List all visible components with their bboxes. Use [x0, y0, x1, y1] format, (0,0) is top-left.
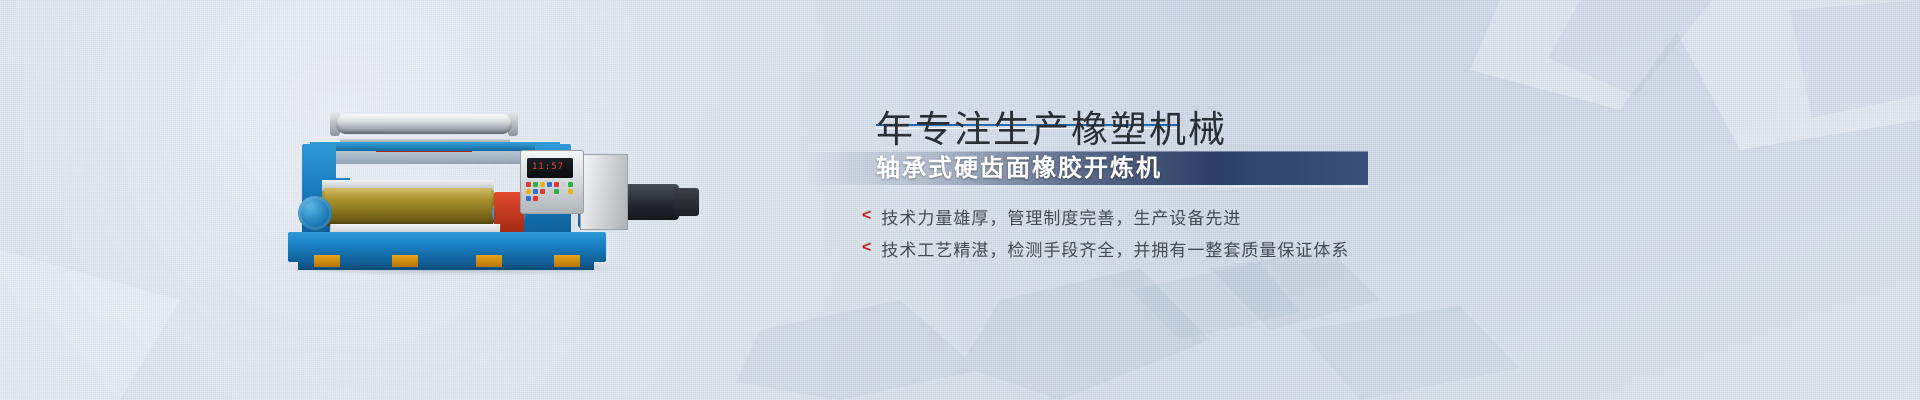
- base-foot: [554, 255, 580, 267]
- subtitle: 轴承式硬齿面橡胶开炼机: [876, 156, 1162, 182]
- machine-guard: [320, 150, 552, 164]
- panel-button: [540, 189, 545, 194]
- base-foot: [392, 255, 418, 267]
- list-item-label: 技术力量雄厚，管理制度完善，生产设备先进: [881, 204, 1241, 229]
- panel-button: [540, 182, 545, 187]
- base-foot: [314, 255, 340, 267]
- list-item: < 技术工艺精湛，检测手段齐全，并拥有一整套质量保证体系: [862, 232, 1562, 264]
- panel-display-value: 11:57: [532, 162, 564, 172]
- panel-button: [526, 196, 531, 201]
- panel-buttons: [526, 182, 576, 206]
- panel-button: [568, 182, 573, 187]
- panel-button: [547, 189, 552, 194]
- panel-button: [526, 189, 531, 194]
- product-image: 11:57: [280, 92, 620, 272]
- panel-button: [533, 189, 538, 194]
- steel-roller: [336, 114, 512, 134]
- panel-button: [526, 182, 531, 187]
- panel-button: [533, 182, 538, 187]
- chevron-left-icon: <: [862, 240, 871, 256]
- panel-button: [568, 189, 573, 194]
- electric-motor: [625, 184, 679, 220]
- feature-list: < 技术力量雄厚，管理制度完善，生产设备先进 < 技术工艺精湛，检测手段齐全，并…: [862, 200, 1562, 264]
- page-title: 年专注生产橡塑机械: [876, 106, 1227, 154]
- base-foot: [476, 255, 502, 267]
- silver-cabinet: [580, 154, 628, 230]
- list-item: < 技术力量雄厚，管理制度完善，生产设备先进: [862, 200, 1562, 232]
- panel-button: [554, 189, 559, 194]
- panel-button: [547, 182, 552, 187]
- chevron-left-icon: <: [862, 208, 871, 224]
- panel-button: [533, 196, 538, 201]
- list-item-label: 技术工艺精湛，检测手段齐全，并拥有一整套质量保证体系: [881, 236, 1349, 261]
- hub-left: [298, 196, 332, 230]
- motor-fan-cover: [673, 188, 699, 216]
- panel-button: [554, 182, 559, 187]
- machine-base-lower: [298, 260, 594, 270]
- panel-button: [561, 182, 566, 187]
- panel-button: [561, 189, 566, 194]
- hero-banner: 11:57 年专注生产橡塑机械 轴: [0, 0, 1920, 400]
- brass-roller: [322, 188, 494, 226]
